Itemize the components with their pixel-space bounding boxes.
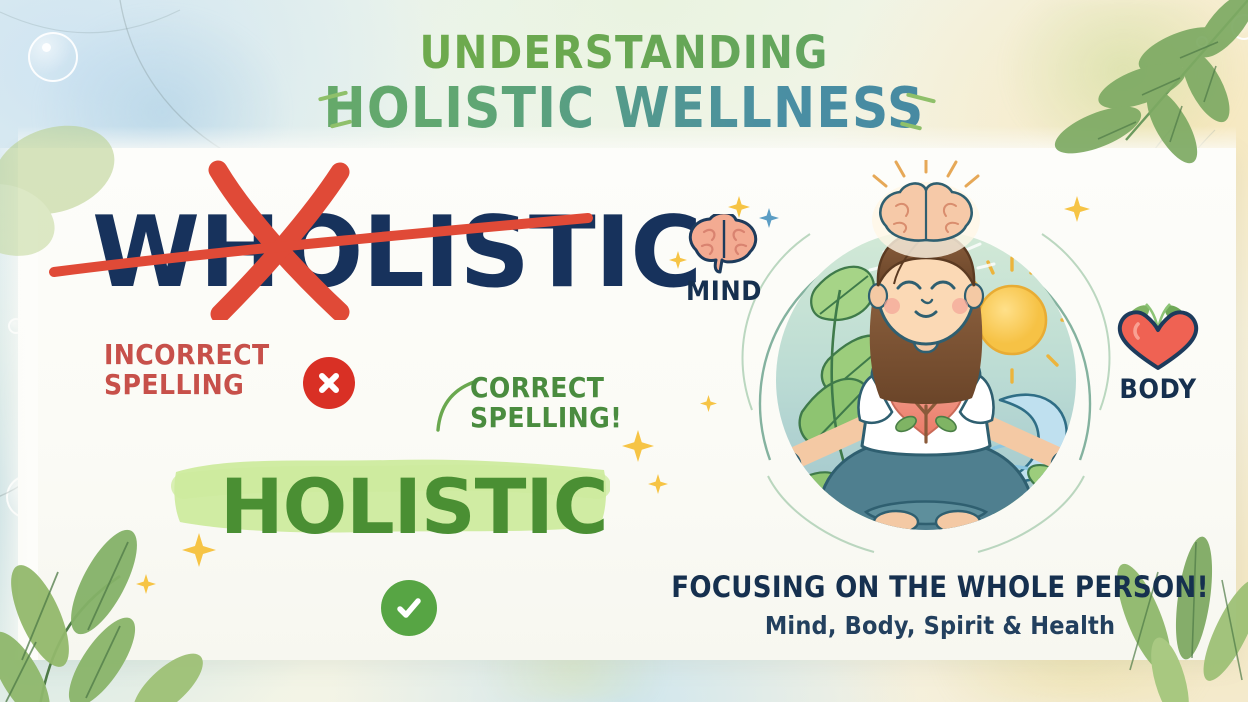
incorrect-label-line-1: INCORRECT (104, 340, 270, 370)
title-block: UNDERSTANDING HOLISTIC WELLNESS (0, 30, 1248, 137)
pillar-mind: MIND (672, 202, 776, 307)
correct-label-line-2: SPELLING! (470, 403, 622, 433)
heart-icon (1106, 300, 1210, 374)
correct-spelling-word: HOLISTIC (220, 462, 608, 551)
check-mark-icon (393, 592, 425, 624)
pillar-mind-label: MIND (672, 276, 776, 307)
x-mark-icon (315, 369, 343, 397)
caption-line-1: FOCUSING ON THE WHOLE PERSON! (660, 572, 1220, 604)
red-cross-out-icon (40, 160, 600, 320)
title-line-2: HOLISTIC WELLNESS (0, 81, 1248, 137)
caption-line-2: Mind, Body, Spirit & Health (660, 611, 1220, 640)
correct-label-line-1: CORRECT (470, 373, 622, 403)
brain-icon (672, 202, 776, 276)
incorrect-spelling-label: INCORRECT SPELLING (104, 340, 270, 400)
check-mark-badge (381, 580, 437, 636)
x-mark-badge (303, 357, 355, 409)
caption-block: FOCUSING ON THE WHOLE PERSON! Mind, Body… (660, 572, 1220, 640)
correct-spelling-label: CORRECT SPELLING! (470, 373, 622, 433)
pillar-body: BODY (1106, 300, 1210, 405)
incorrect-label-line-2: SPELLING (104, 370, 270, 400)
pillar-body-label: BODY (1106, 374, 1210, 405)
title-line-1: UNDERSTANDING (0, 30, 1248, 75)
